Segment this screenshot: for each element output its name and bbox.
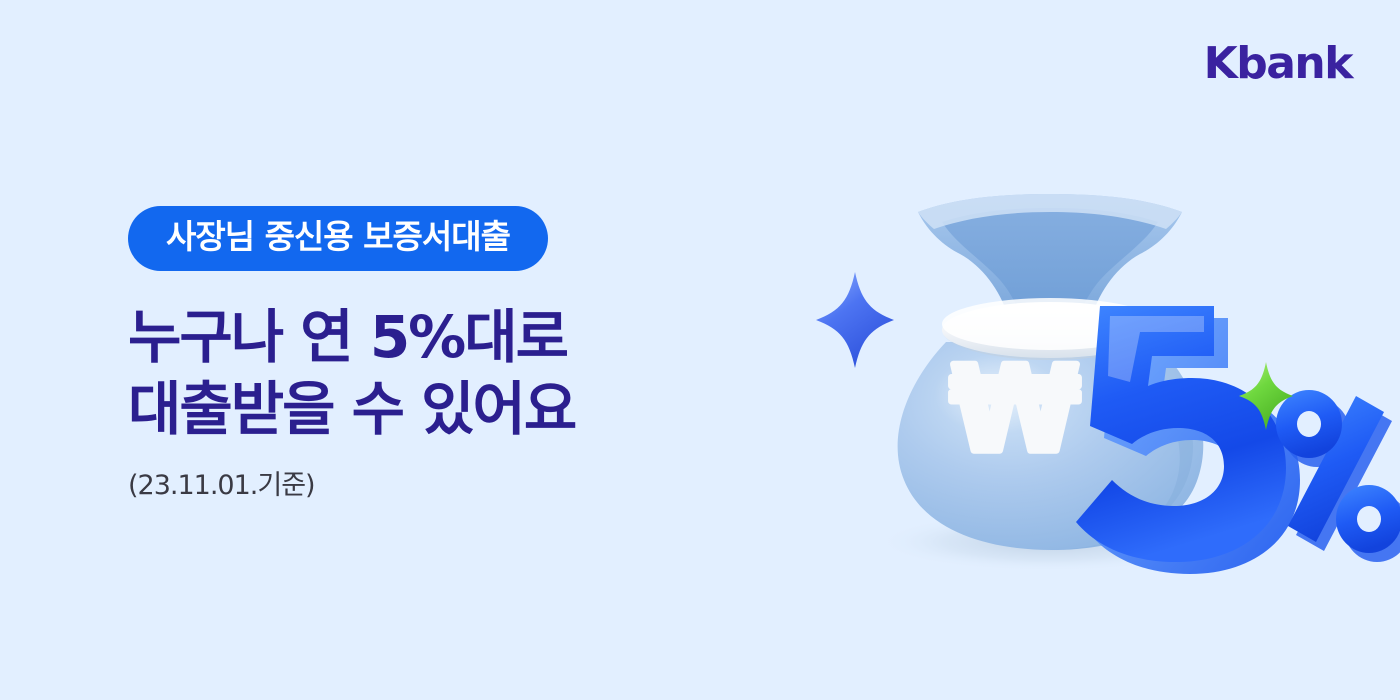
- percent-lower-ring: [1336, 485, 1400, 553]
- headline: 누구나 연 5%대로 대출받을 수 있어요: [128, 301, 768, 445]
- rate-number-5: [1076, 306, 1300, 574]
- percent-upper-ring: [1276, 390, 1342, 458]
- won-symbol: ₩: [950, 340, 1080, 478]
- headline-line-1: 누구나 연 5%대로: [128, 301, 768, 373]
- disclaimer-text: (23.11.01.기준): [128, 469, 768, 503]
- promo-banner: Kbank 사장님 중신용 보증서대출 누구나 연 5%대로 대출받을 수 있어…: [0, 0, 1400, 700]
- copy-column: 사장님 중신용 보증서대출 누구나 연 5%대로 대출받을 수 있어요 (23.…: [128, 206, 768, 503]
- product-badge: 사장님 중신용 보증서대출: [128, 206, 548, 271]
- kbank-logo: Kbank: [1204, 42, 1352, 86]
- won-glyph: ₩: [950, 340, 1080, 478]
- headline-line-2: 대출받을 수 있어요: [128, 373, 768, 445]
- blue-sparkle-icon: [816, 272, 894, 368]
- money-bag-illustration: ₩: [800, 150, 1400, 620]
